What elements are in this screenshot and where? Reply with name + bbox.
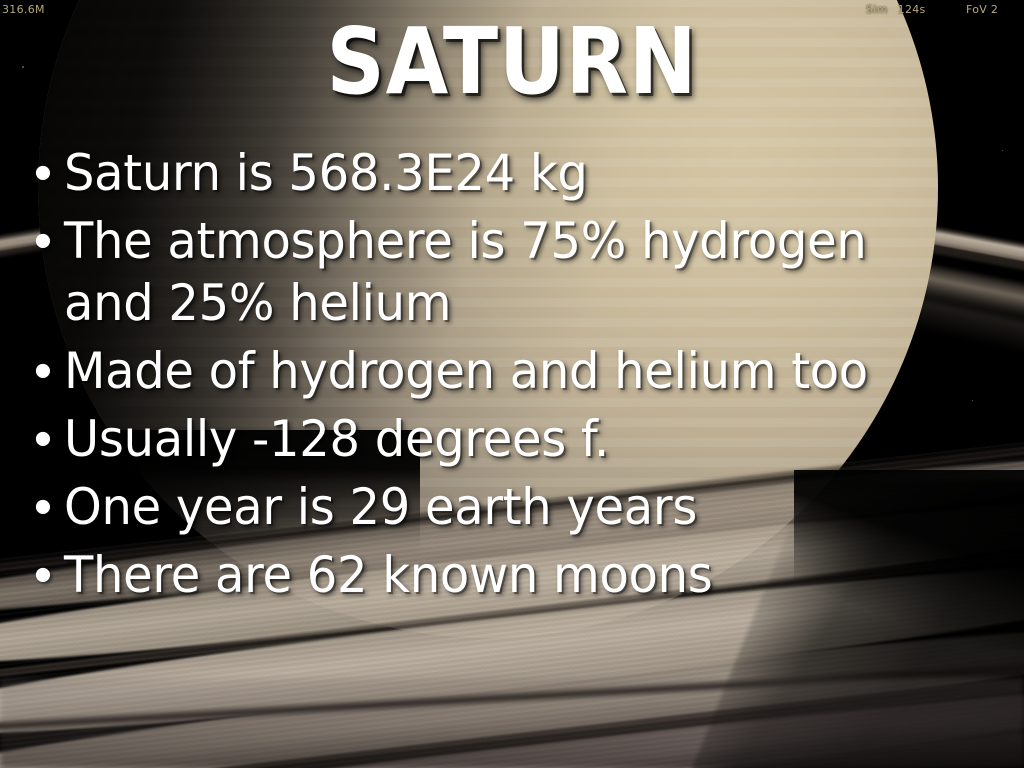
list-item: • Saturn is 568.3E24 kg xyxy=(22,142,1000,204)
hud-sim-label: Sim xyxy=(866,3,888,16)
list-item: • There are 62 known moons xyxy=(22,544,1000,606)
bullet-point-icon: • xyxy=(22,476,64,538)
bullet-point-icon: • xyxy=(22,210,64,272)
bullet-text: The atmosphere is 75% hydrogen and 25% h… xyxy=(64,210,963,334)
list-item: • The atmosphere is 75% hydrogen and 25%… xyxy=(22,210,1000,334)
hud-sim-readout: Sim124s xyxy=(866,3,926,16)
list-item: • Usually -128 degrees f. xyxy=(22,408,1000,470)
bullet-point-icon: • xyxy=(22,142,64,204)
bullet-text: Usually -128 degrees f. xyxy=(64,408,963,470)
bullet-text: Saturn is 568.3E24 kg xyxy=(64,142,963,204)
presentation-slide: 316.6M Sim124s FoV 2 SATURN • Saturn is … xyxy=(0,0,1024,768)
hud-fov-readout: FoV 2 xyxy=(966,3,998,16)
bullet-point-icon: • xyxy=(22,408,64,470)
bullet-point-icon: • xyxy=(22,340,64,402)
hud-sim-value: 124s xyxy=(898,3,926,16)
bullet-point-icon: • xyxy=(22,544,64,606)
list-item: • Made of hydrogen and helium too xyxy=(22,340,1000,402)
bullet-text: Made of hydrogen and helium too xyxy=(64,340,963,402)
bullet-text: There are 62 known moons xyxy=(64,544,963,606)
bullet-list: • Saturn is 568.3E24 kg • The atmosphere… xyxy=(22,142,1000,612)
list-item: • One year is 29 earth years xyxy=(22,476,1000,538)
bullet-text: One year is 29 earth years xyxy=(64,476,963,538)
hud-distance-value: 316.6M xyxy=(2,3,45,16)
